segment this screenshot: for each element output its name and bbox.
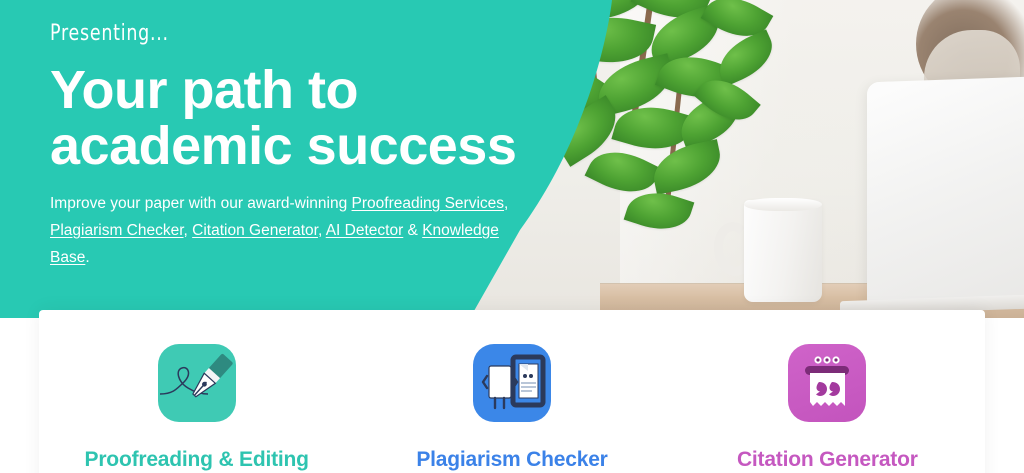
headline-line-2: academic success: [50, 116, 516, 176]
hero-eyebrow: Presenting...: [50, 20, 482, 46]
fountain-pen-icon: [158, 344, 236, 422]
headline-line-1: Your path to: [50, 60, 358, 120]
quote-machine-icon: [788, 344, 866, 422]
hero-section: Presenting... Your path to academic succ…: [0, 0, 1024, 473]
subcopy-sep-3: ,: [318, 222, 326, 239]
feature-label-plagiarism: Plagiarism Checker: [416, 448, 607, 472]
subcopy-sep-2: ,: [184, 222, 193, 239]
feature-item-citation[interactable]: Citation Generator: [670, 310, 985, 473]
link-plagiarism-checker[interactable]: Plagiarism Checker: [50, 222, 184, 239]
subcopy-lead: Improve your paper with our award-winnin…: [50, 195, 352, 212]
feature-card: Proofreading & Editing: [39, 310, 985, 473]
hero-copy: Presenting... Your path to academic succ…: [50, 0, 520, 271]
link-ai-detector[interactable]: AI Detector: [326, 222, 404, 239]
feature-item-proofreading[interactable]: Proofreading & Editing: [39, 310, 354, 473]
laptop-lid: [867, 74, 1024, 305]
page-title: Your path to academic success: [50, 62, 520, 174]
feature-label-citation: Citation Generator: [737, 448, 918, 472]
link-proofreading-services[interactable]: Proofreading Services: [352, 195, 505, 212]
feature-label-proofreading: Proofreading & Editing: [85, 448, 309, 472]
subcopy-end: .: [85, 249, 89, 266]
subcopy-sep-4: &: [403, 222, 422, 239]
subcopy-sep-1: ,: [504, 195, 508, 212]
feature-item-plagiarism[interactable]: Plagiarism Checker: [354, 310, 669, 473]
mirror-document-icon: [473, 344, 551, 422]
hero-subcopy: Improve your paper with our award-winnin…: [50, 190, 520, 271]
link-citation-generator[interactable]: Citation Generator: [192, 222, 318, 239]
